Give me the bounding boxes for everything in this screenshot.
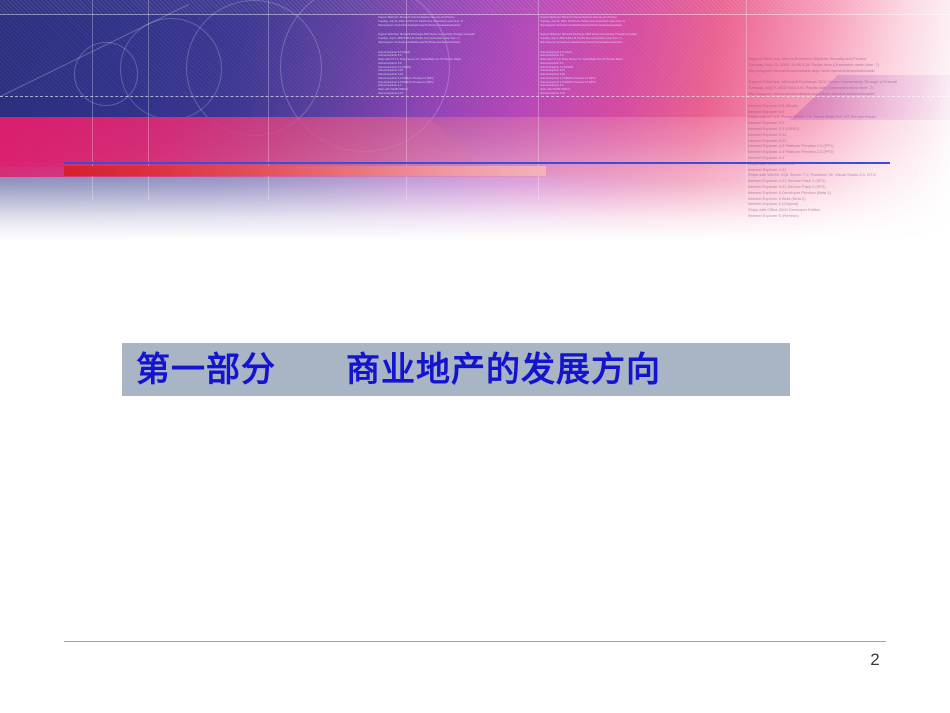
section-title-band: 第一部分 商业地产的发展方向 <box>122 343 790 396</box>
slide-canvas: Support WebCast: Microsoft Internet Expl… <box>0 0 950 713</box>
page-title: 第一部分 商业地产的发展方向 <box>122 353 661 387</box>
red-accent-bar <box>64 166 546 176</box>
page-number: 2 <box>860 650 890 670</box>
banner-top-strip <box>0 0 950 14</box>
footer-divider <box>64 641 886 642</box>
banner-vertical-guide <box>746 0 747 200</box>
decorative-banner: Support WebCast: Microsoft Internet Expl… <box>0 0 950 240</box>
banner-top-rule <box>0 14 950 15</box>
blue-accent-line <box>64 162 890 164</box>
banner-dashed-rule <box>0 96 950 97</box>
